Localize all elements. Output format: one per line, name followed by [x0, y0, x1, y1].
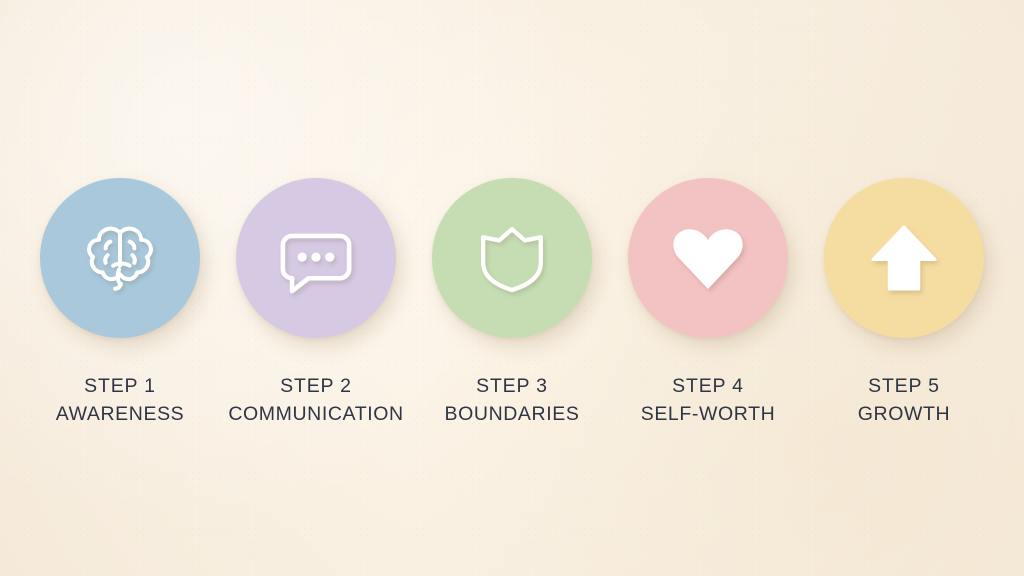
step-item-2[interactable]: STEP 2 COMMUNICATION — [235, 178, 397, 427]
step-circle-2[interactable] — [236, 178, 396, 338]
step-item-3[interactable]: STEP 3 BOUNDARIES — [431, 178, 593, 427]
brain-icon — [72, 210, 168, 306]
heart-icon — [665, 215, 751, 301]
step-circle-1[interactable] — [40, 178, 200, 338]
step-title-3: BOUNDARIES — [445, 402, 580, 428]
step-item-4[interactable]: STEP 4 SELF-WORTH — [627, 178, 789, 427]
steps-row: STEP 1 AWARENESS STEP 2 COMMUNICATION — [0, 0, 1024, 576]
step-title-4: SELF-WORTH — [641, 402, 776, 428]
step-title-1: AWARENESS — [56, 402, 185, 428]
step-title-2: COMMUNICATION — [228, 402, 403, 428]
shield-icon — [472, 218, 552, 298]
step-item-5[interactable]: STEP 5 GROWTH — [823, 178, 985, 427]
step-labels-5: STEP 5 GROWTH — [858, 374, 950, 427]
step-number-3: STEP 3 — [445, 374, 580, 400]
step-labels-4: STEP 4 SELF-WORTH — [641, 374, 776, 427]
step-title-5: GROWTH — [858, 402, 950, 428]
arrow-up-icon — [867, 221, 941, 295]
step-labels-2: STEP 2 COMMUNICATION — [228, 374, 403, 427]
step-circle-5[interactable] — [824, 178, 984, 338]
step-circle-4[interactable] — [628, 178, 788, 338]
step-number-5: STEP 5 — [858, 374, 950, 400]
step-number-4: STEP 4 — [641, 374, 776, 400]
step-labels-1: STEP 1 AWARENESS — [56, 374, 185, 427]
step-number-1: STEP 1 — [56, 374, 185, 400]
step-labels-3: STEP 3 BOUNDARIES — [445, 374, 580, 427]
speech-bubble-dots-icon — [270, 212, 362, 304]
step-circle-3[interactable] — [432, 178, 592, 338]
step-item-1[interactable]: STEP 1 AWARENESS — [39, 178, 201, 427]
step-number-2: STEP 2 — [228, 374, 403, 400]
infographic-canvas: STEP 1 AWARENESS STEP 2 COMMUNICATION — [0, 0, 1024, 576]
